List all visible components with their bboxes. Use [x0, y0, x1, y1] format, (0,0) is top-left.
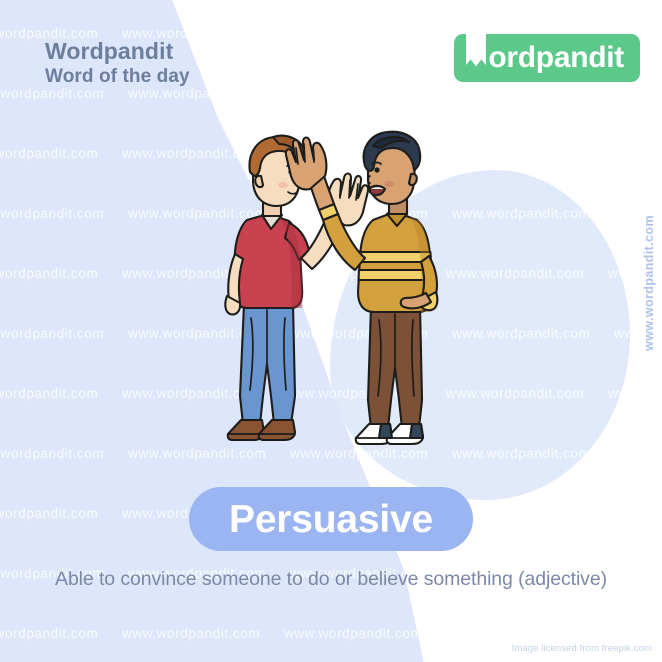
word-pill: Persuasive — [189, 487, 473, 551]
word-term: Persuasive — [229, 500, 433, 539]
image-credit: Image licensed from freepik.com — [512, 643, 652, 654]
word-of-the-day-card: www.wordpandit.comwww.wordpandit.comwww.… — [0, 0, 662, 662]
logo-text: ordpandit — [488, 43, 624, 73]
header-block: Wordpandit Word of the day — [45, 38, 190, 89]
bookmark-w-icon — [464, 33, 488, 75]
brand-tagline: Word of the day — [45, 65, 190, 89]
word-definition: Able to convince someone to do or believ… — [0, 568, 662, 591]
wordpandit-logo[interactable]: ordpandit — [454, 34, 640, 82]
brand-title: Wordpandit — [45, 38, 190, 64]
vertical-watermark: www.wordpandit.com — [642, 215, 656, 351]
two-men-high-five-illustration: .ol{stroke:#1d1d1b;stroke-width:2.1;stro… — [205, 128, 455, 458]
